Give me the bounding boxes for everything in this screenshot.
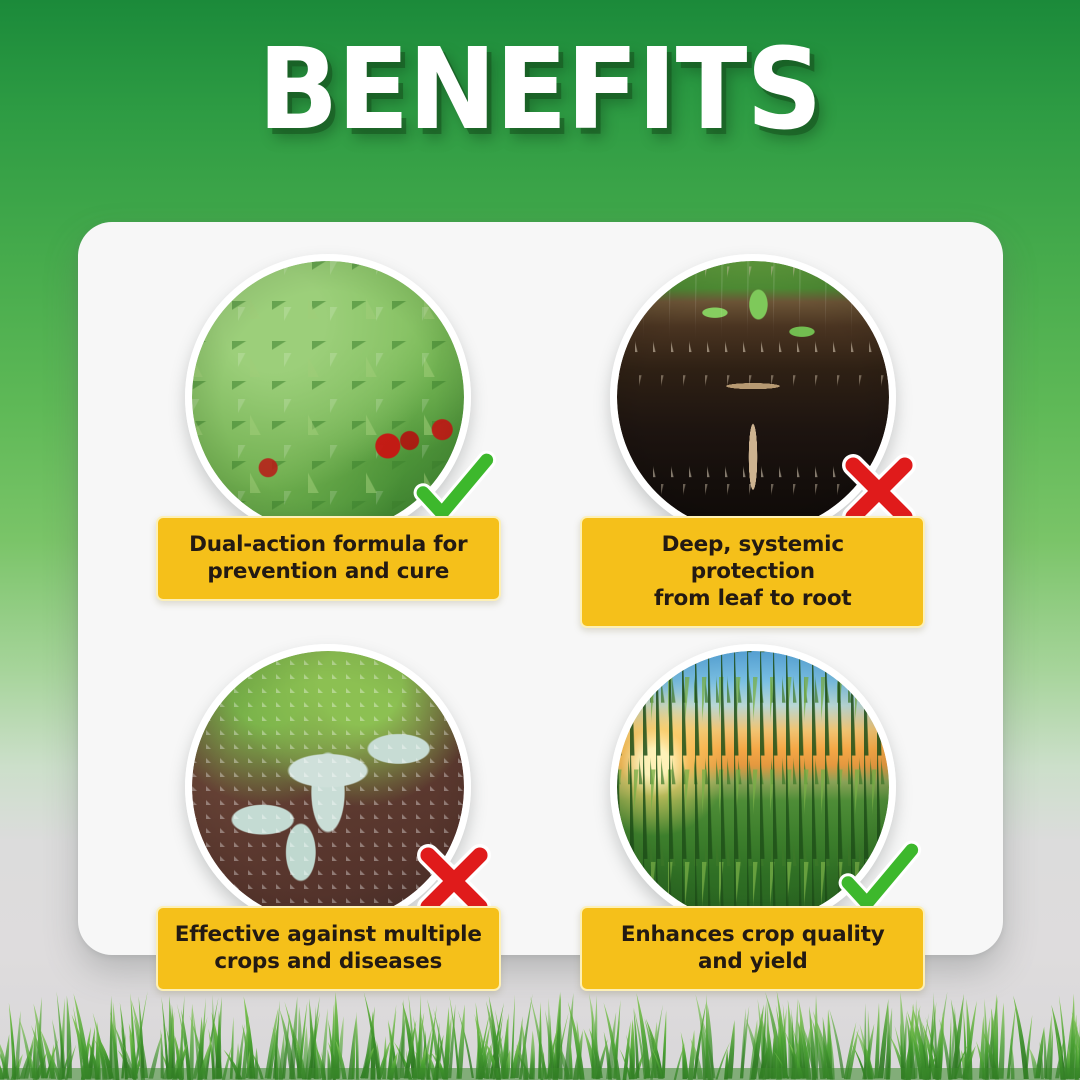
benefit-item-4: Enhances crop quality and yield [541,628,966,991]
page-title-container: BENEFITS [0,34,1080,146]
benefit-3-caption: Effective against multiple crops and dis… [156,906,501,991]
benefit-3-caption-line1: Effective against multiple [172,921,485,948]
benefits-poster: BENEFITS [0,0,1080,1080]
photo-vignette [192,261,464,533]
benefit-2-caption-line2: from leaf to root [596,585,909,612]
chilli-plant-photo [185,254,471,540]
seedling-roots-soil-photo [610,254,896,540]
benefit-2-caption: Deep, systemic protection from leaf to r… [580,516,925,628]
powdery-mildew-leaf-image [192,651,464,923]
benefit-item-3: Effective against multiple crops and dis… [116,628,541,991]
benefit-1-caption: Dual-action formula for prevention and c… [156,516,501,601]
benefit-1-caption-line2: prevention and cure [172,558,485,585]
powdery-mildew-leaf-photo [185,644,471,930]
photo-vignette [192,651,464,923]
corn-field-sunset-image [617,651,889,923]
benefit-2-caption-line1: Deep, systemic protection [596,531,909,585]
benefit-1-caption-line1: Dual-action formula for [172,531,485,558]
benefit-3-caption-line2: crops and diseases [172,948,485,975]
chilli-plant-image [192,261,464,533]
benefit-4-photo-wrap [610,644,896,930]
benefit-3-photo-wrap [185,644,471,930]
photo-vignette [617,651,889,923]
seedling-roots-soil-image [617,261,889,533]
benefits-card: Dual-action formula for prevention and c… [78,222,1003,955]
benefit-2-photo-wrap [610,254,896,540]
benefit-4-caption: Enhances crop quality and yield [580,906,925,991]
corn-field-sunset-photo [610,644,896,930]
benefit-item-2: Deep, systemic protection from leaf to r… [541,238,966,628]
photo-vignette [617,261,889,533]
benefit-4-caption-line2: and yield [596,948,909,975]
page-title: BENEFITS [258,34,821,146]
benefit-item-1: Dual-action formula for prevention and c… [116,238,541,628]
benefit-1-photo-wrap [185,254,471,540]
benefits-grid: Dual-action formula for prevention and c… [78,222,1003,955]
benefit-4-caption-line1: Enhances crop quality [596,921,909,948]
